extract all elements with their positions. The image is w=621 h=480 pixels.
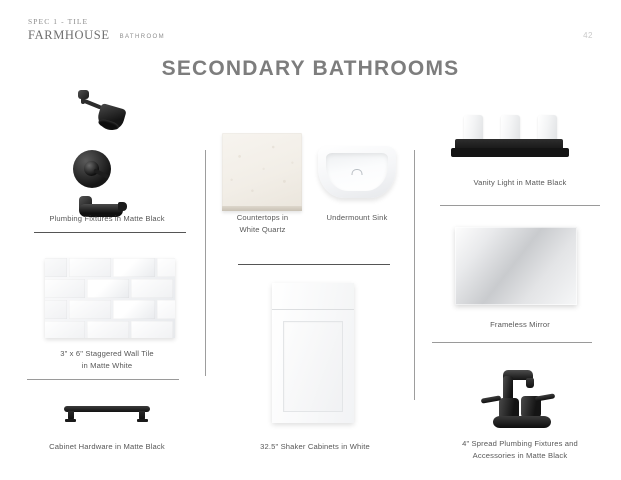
mirror-icon [455, 227, 577, 305]
cabinet-icon [272, 283, 354, 423]
column-divider-left [205, 150, 206, 376]
spec-sheet-page: SPEC 1 - TILE FARMHOUSE BATHROOM 42 SECO… [0, 0, 621, 480]
caption-spread-faucet: 4" Spread Plumbing Fixtures and Accessor… [423, 438, 617, 462]
caption-undermount-sink: Undermount Sink [304, 212, 410, 224]
brand-row: FARMHOUSE BATHROOM [28, 29, 165, 42]
divider-under-vanity-light [440, 205, 600, 206]
caption-shaker-cabinets: 32.5" Shaker Cabinets in White [222, 441, 408, 453]
page-number: 42 [583, 31, 593, 40]
sink-icon [318, 146, 396, 198]
caption-plumbing-fixtures: Plumbing Fixtures in Matte Black [12, 213, 202, 225]
brand-subtitle: BATHROOM [120, 34, 165, 42]
subway-tile-icon [45, 258, 175, 338]
product-cabinet-hardware [60, 402, 160, 426]
caption-wall-tile: 3" x 6" Staggered Wall Tile in Matte Whi… [12, 348, 202, 372]
divider-under-mirror [432, 342, 592, 343]
brand-block: SPEC 1 - TILE FARMHOUSE BATHROOM [28, 18, 165, 41]
divider-under-wall-tile [27, 379, 179, 380]
caption-wall-tile-line1: 3" x 6" Staggered Wall Tile [12, 348, 202, 360]
caption-cabinet-hardware: Cabinet Hardware in Matte Black [12, 441, 202, 453]
brand-name: FARMHOUSE [28, 29, 110, 42]
caption-vanity-light: Vanity Light in Matte Black [425, 177, 615, 189]
product-plumbing-fixtures [22, 88, 192, 208]
caption-countertops-line2: White Quartz [215, 224, 310, 236]
caption-frameless-mirror: Frameless Mirror [425, 319, 615, 331]
caption-countertops-line1: Countertops in [215, 212, 310, 224]
product-spread-faucet [477, 370, 567, 432]
quartz-slab-icon [222, 133, 302, 211]
product-vanity-light [455, 112, 585, 167]
column-divider-right [414, 150, 415, 400]
caption-spread-faucet-line2: Accessories in Matte Black [423, 450, 617, 462]
spec-label: SPEC 1 - TILE [28, 18, 165, 26]
divider-under-plumbing-fixtures [34, 232, 186, 233]
caption-spread-faucet-line1: 4" Spread Plumbing Fixtures and [423, 438, 617, 450]
page-title: SECONDARY BATHROOMS [0, 57, 621, 81]
divider-above-cabinets [238, 264, 390, 265]
caption-countertops: Countertops in White Quartz [215, 212, 310, 236]
caption-wall-tile-line2: in Matte White [12, 360, 202, 372]
